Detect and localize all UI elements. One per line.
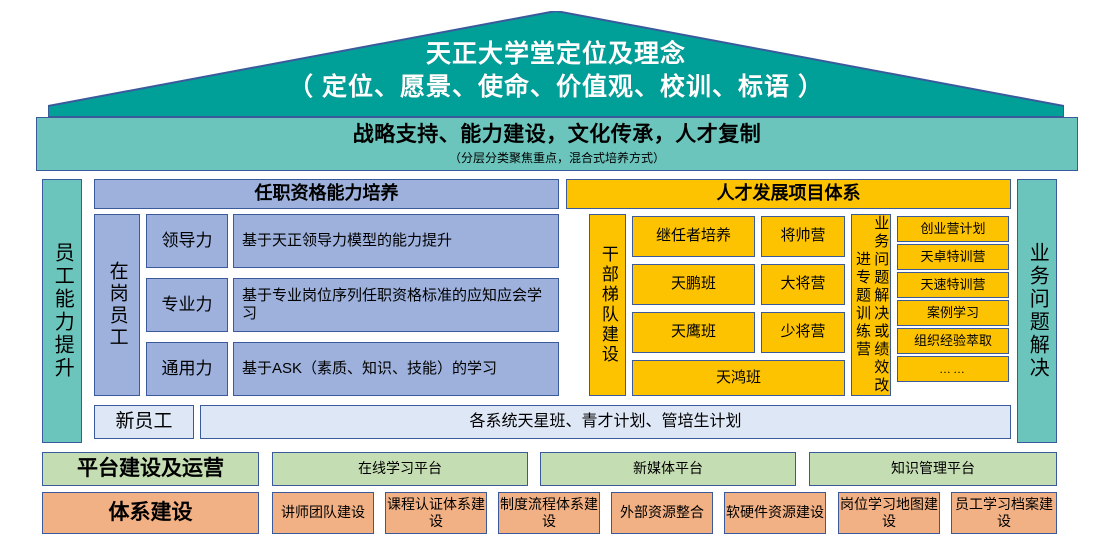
system-item-learning-archive: 员工学习档案建设 — [951, 492, 1057, 534]
platform-title: 平台建设及运营 — [42, 452, 259, 486]
talent-item-startup-camp: 创业营计划 — [897, 216, 1009, 242]
system-item-hardware-software: 软硬件资源建设 — [724, 492, 826, 534]
pillar-business-problem-label: 业务问题解决 — [1025, 242, 1049, 380]
talent-item-tianzhuo-camp: 天卓特训营 — [897, 244, 1009, 270]
roof-title: 天正大学堂定位及理念 （ 定位、愿景、使命、价值观、校训、标语 ） — [48, 38, 1064, 104]
cadre-echelon-label: 干部梯队建设 — [589, 214, 626, 396]
talent-header: 人才发展项目体系 — [566, 179, 1011, 209]
diagram-canvas: 天正大学堂定位及理念 （ 定位、愿景、使命、价值观、校训、标语 ） 战略支持、能… — [0, 0, 1114, 551]
talent-item-experience-extraction: 组织经验萃取 — [897, 328, 1009, 354]
platform-item-new-media: 新媒体平台 — [540, 452, 796, 486]
on-job-employee-label: 在岗员工 — [94, 214, 140, 396]
talent-program-successor: 继任者培养 — [632, 216, 755, 257]
system-item-external-resources: 外部资源整合 — [611, 492, 713, 534]
talent-camp-minor-general: 少将营 — [761, 312, 845, 353]
cadre-echelon-text: 干部梯队建设 — [597, 245, 618, 365]
talent-item-ellipsis: …… — [897, 356, 1009, 382]
qualification-name-leadership: 领导力 — [146, 214, 228, 268]
strategy-band: 战略支持、能力建设，文化传承，人才复制 （分层分类聚焦重点，混合式培养方式） — [36, 117, 1078, 171]
strategy-band-sub: （分层分类聚焦重点，混合式培养方式） — [449, 151, 665, 166]
qualification-name-professional: 专业力 — [146, 278, 228, 332]
pillar-business-problem: 业务问题解决 — [1017, 179, 1057, 443]
platform-item-online-learning: 在线学习平台 — [272, 452, 528, 486]
new-employee-label: 新员工 — [94, 405, 194, 439]
qualification-desc-professional: 基于专业岗位序列任职资格标准的应知应会学习 — [233, 278, 559, 332]
qualification-name-general: 通用力 — [146, 342, 228, 396]
talent-item-tiansu-camp: 天速特训营 — [897, 272, 1009, 298]
system-item-process-system: 制度流程体系建设 — [498, 492, 600, 534]
roof-title-line2: （ 定位、愿景、使命、价值观、校训、标语 ） — [48, 71, 1064, 104]
business-problem-training-camp-text: 业务问题解决或绩效改进专题训练营 — [853, 215, 890, 395]
talent-camp-major-general: 大将营 — [761, 264, 845, 305]
system-item-learning-map: 岗位学习地图建设 — [838, 492, 940, 534]
system-item-trainer-team: 讲师团队建设 — [272, 492, 374, 534]
qualification-desc-leadership: 基于天正领导力模型的能力提升 — [233, 214, 559, 268]
pillar-employee-capability: 员工能力提升 — [42, 179, 82, 443]
business-problem-training-camp: 业务问题解决或绩效改进专题训练营 — [851, 214, 891, 396]
talent-program-tianhong: 天鸿班 — [632, 360, 845, 396]
system-title: 体系建设 — [42, 492, 259, 534]
pillar-employee-capability-label: 员工能力提升 — [50, 242, 74, 380]
roof-title-line1: 天正大学堂定位及理念 — [48, 38, 1064, 71]
system-item-course-certification: 课程认证体系建设 — [385, 492, 487, 534]
talent-camp-general-marshal: 将帅营 — [761, 216, 845, 257]
new-employee-desc: 各系统天星班、青才计划、管培生计划 — [200, 405, 1011, 439]
qualification-desc-general: 基于ASK（素质、知识、技能）的学习 — [233, 342, 559, 396]
on-job-employee-text: 在岗员工 — [105, 261, 128, 349]
strategy-band-main: 战略支持、能力建设，文化传承，人才复制 — [353, 122, 762, 148]
platform-item-knowledge-management: 知识管理平台 — [809, 452, 1057, 486]
talent-program-tianying: 天鹰班 — [632, 312, 755, 353]
talent-item-case-study: 案例学习 — [897, 300, 1009, 326]
qualification-header: 任职资格能力培养 — [94, 179, 559, 209]
talent-program-tianpeng: 天鹏班 — [632, 264, 755, 305]
